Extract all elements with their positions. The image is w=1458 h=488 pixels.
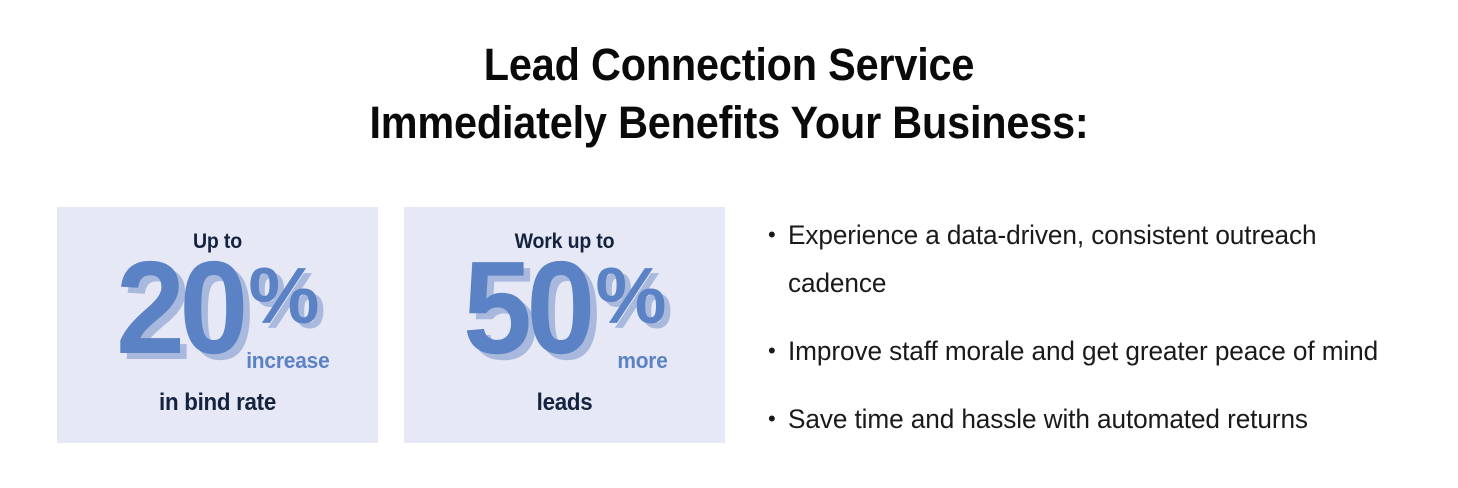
stat-card-leads: Work up to 50 % more leads xyxy=(404,207,725,443)
list-item-label: Save time and hassle with automated retu… xyxy=(788,395,1399,443)
list-item: • Save time and hassle with automated re… xyxy=(768,395,1418,443)
stat-footer: leads xyxy=(415,389,714,417)
stat-suffix: increase xyxy=(246,348,329,374)
percent-symbol: % xyxy=(248,253,319,339)
percent-symbol: % xyxy=(595,253,666,339)
page-title-line-1: Lead Connection Service xyxy=(58,36,1399,94)
stat-figure: 20 % xyxy=(57,249,378,377)
list-item: • Improve staff morale and get greater p… xyxy=(768,327,1418,375)
benefits-list: • Experience a data-driven, consistent o… xyxy=(768,211,1418,463)
list-item-label: Improve staff morale and get greater pea… xyxy=(788,327,1399,375)
bullet-icon: • xyxy=(768,327,788,375)
stat-number: 20 xyxy=(116,249,243,367)
page-title: Lead Connection Service Immediately Bene… xyxy=(58,36,1399,152)
stat-suffix: more xyxy=(617,348,667,374)
stat-card-bind-rate: Up to 20 % increase in bind rate xyxy=(57,207,378,443)
list-item-label: Experience a data-driven, consistent out… xyxy=(788,211,1399,307)
list-item: • Experience a data-driven, consistent o… xyxy=(768,211,1418,307)
stat-number: 50 xyxy=(463,249,590,367)
stat-footer: in bind rate xyxy=(68,389,367,417)
bullet-icon: • xyxy=(768,395,788,443)
page-title-line-2: Immediately Benefits Your Business: xyxy=(58,94,1399,152)
stat-figure: 50 % xyxy=(404,249,725,377)
stat-card-group: Up to 20 % increase in bind rate Work up… xyxy=(57,207,725,443)
bullet-icon: • xyxy=(768,211,788,259)
